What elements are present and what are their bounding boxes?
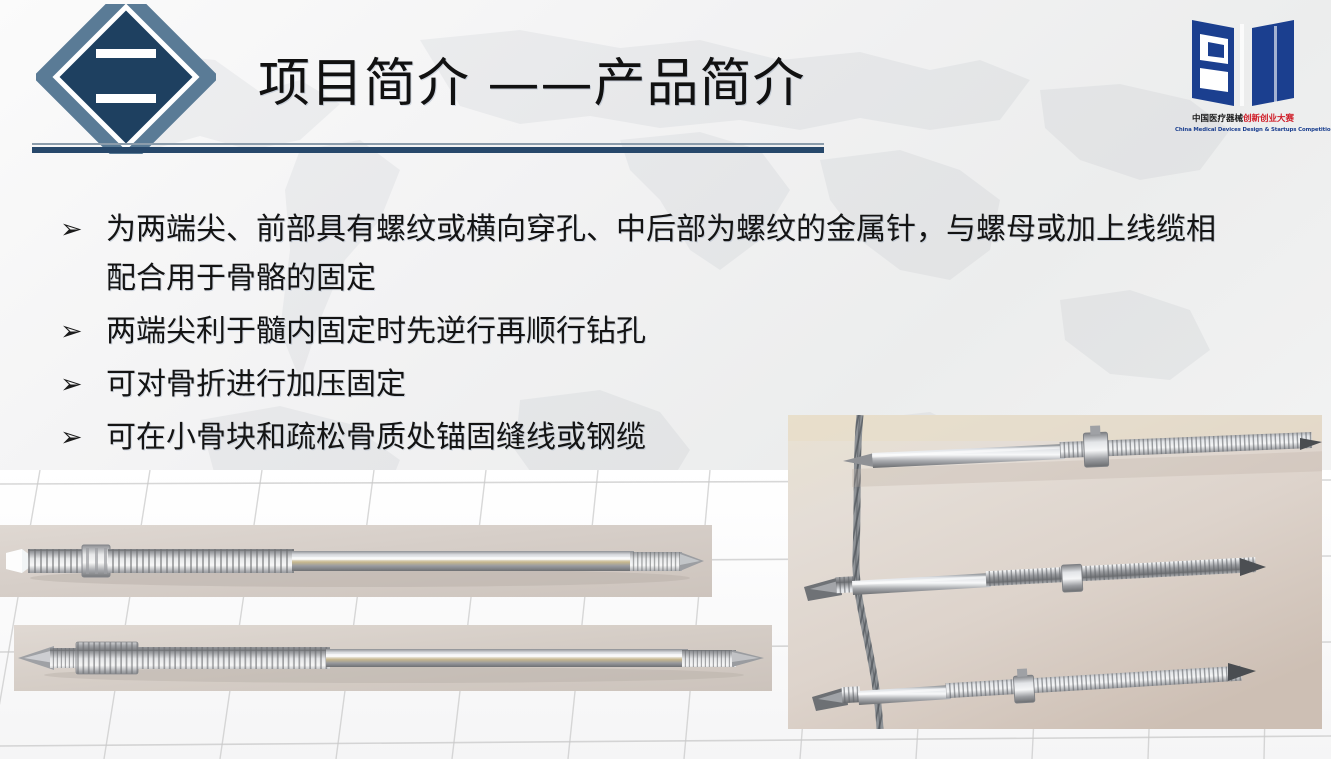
title-underline-thin: [32, 143, 824, 145]
title-main: 项目简介: [258, 54, 470, 114]
open-book-door-icon: [1188, 14, 1298, 110]
arrow-bullet-icon: ➢: [60, 360, 106, 409]
list-item-label: 两端尖利于髓内固定时先逆行再顺行钻孔: [106, 307, 1220, 356]
competition-name-highlight: 创新创业大赛: [1243, 114, 1294, 124]
arrow-bullet-icon: ➢: [60, 205, 106, 254]
page-title: 项目简介 ——产品简介: [258, 58, 806, 110]
list-item-label: 为两端尖、前部具有螺纹或横向穿孔、中后部为螺纹的金属针，与螺母或加上线缆相配合用…: [106, 205, 1220, 303]
pin-photo-top-left: [0, 525, 712, 597]
list-item: ➢ 两端尖利于髓内固定时先逆行再顺行钻孔: [60, 307, 1220, 356]
competition-logo: 中国医疗器械创新创业大赛 China Medical Devices Desig…: [1175, 10, 1311, 162]
list-item: ➢ 为两端尖、前部具有螺纹或横向穿孔、中后部为螺纹的金属针，与螺母或加上线缆相配…: [60, 205, 1220, 303]
title-underline-thick: [32, 147, 824, 153]
competition-name-prefix: 中国医疗器械: [1192, 114, 1243, 124]
title-sub: 产品简介: [594, 54, 806, 114]
competition-name-en: China Medical Devices Design & Startups …: [1175, 127, 1311, 133]
list-item: ➢ 可对骨折进行加压固定: [60, 360, 1220, 409]
list-item-label: 可对骨折进行加压固定: [106, 360, 1220, 409]
pin-photo-bottom-left: [14, 625, 772, 691]
arrow-bullet-icon: ➢: [60, 413, 106, 462]
competition-name-cn: 中国医疗器械创新创业大赛: [1175, 115, 1311, 125]
title-underline: [32, 143, 824, 153]
title-dash: ——: [470, 54, 594, 114]
arrow-bullet-icon: ➢: [60, 307, 106, 356]
pin-photo-right: [788, 415, 1322, 729]
diamond-emblem-logo: [36, 4, 216, 154]
presentation-slide: 项目简介 ——产品简介: [0, 0, 1331, 759]
